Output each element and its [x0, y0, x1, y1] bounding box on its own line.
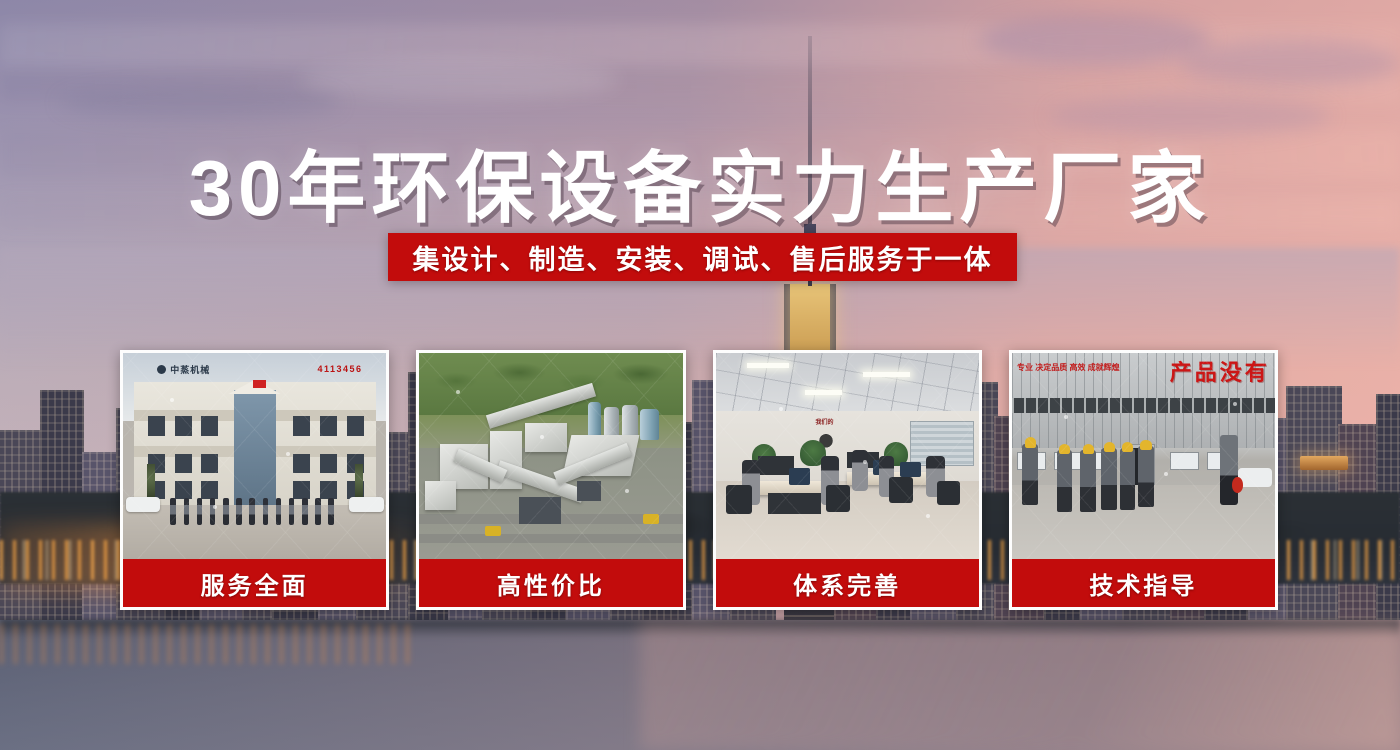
feature-card[interactable]: 我们的	[713, 350, 982, 610]
ceiling-light-panel	[863, 372, 910, 378]
subtitle-banner: 集设计、制造、安装、调试、售后服务于一体	[388, 233, 1017, 281]
excavator	[485, 526, 501, 536]
feature-card[interactable]: 中蒸机械 4113456	[120, 350, 389, 610]
hard-hat	[1140, 440, 1151, 450]
feature-card[interactable]: 高性价比	[416, 350, 685, 610]
staff-person	[289, 498, 295, 525]
flag	[253, 380, 266, 388]
water-sunset-sheen	[640, 620, 1400, 750]
window	[293, 454, 310, 474]
feature-card-caption: 技术指导	[1012, 559, 1275, 607]
staff-person	[263, 498, 269, 525]
window	[320, 454, 337, 474]
parked-car	[349, 497, 383, 511]
office-building-staff-photo: 中蒸机械 4113456	[123, 353, 386, 559]
glass-atrium	[234, 390, 276, 509]
monitor	[900, 462, 921, 476]
hero-banner: 30年环保设备实力生产厂家 集设计、制造、安装、调试、售后服务于一体	[0, 0, 1400, 750]
staff-person	[315, 498, 321, 525]
window	[201, 454, 218, 474]
window	[293, 416, 310, 436]
worker	[1057, 450, 1073, 512]
plant-shed	[519, 497, 561, 524]
staff-person	[210, 498, 216, 525]
watermark-node	[779, 407, 783, 411]
office-chair	[937, 481, 961, 506]
plant-building	[425, 481, 457, 510]
worker	[1080, 450, 1096, 512]
staff-person	[197, 498, 203, 525]
factory-red-sign: 产品没有	[1170, 355, 1270, 387]
window	[148, 416, 165, 436]
window	[293, 481, 310, 500]
feature-card-list: 中蒸机械 4113456	[120, 350, 1278, 610]
office-worker	[852, 450, 868, 491]
office-chair	[889, 477, 913, 504]
plant-road	[419, 534, 682, 542]
window	[175, 481, 192, 500]
company-logo-mark	[157, 365, 166, 374]
window	[175, 416, 192, 436]
staff-person	[223, 498, 229, 525]
lit-rooftop	[1300, 456, 1348, 470]
ceiling-light-panel	[747, 363, 789, 369]
window	[320, 481, 337, 500]
parked-car	[1238, 468, 1272, 487]
ceiling-light-panel	[805, 390, 842, 395]
office-ceiling	[716, 353, 979, 415]
hard-hat	[1104, 442, 1115, 452]
window	[201, 481, 218, 500]
building-sign: 中蒸机械	[157, 363, 210, 376]
silo	[640, 409, 658, 440]
feature-card-caption: 高性价比	[419, 559, 682, 607]
feature-card-caption-text: 服务全面	[201, 566, 309, 601]
cloud-puff	[300, 60, 620, 100]
window	[201, 416, 218, 436]
cloud-puff	[60, 86, 340, 120]
plant-building	[525, 423, 567, 452]
worker	[1138, 446, 1154, 508]
window	[175, 454, 192, 474]
page-title: 30年环保设备实力生产厂家	[0, 126, 1400, 238]
feature-card-caption: 服务全面	[123, 559, 386, 607]
hard-hat	[1025, 437, 1036, 447]
excavator	[643, 514, 659, 524]
watermark-node	[1164, 472, 1168, 476]
subtitle-text: 集设计、制造、安装、调试、售后服务于一体	[413, 238, 993, 277]
watermark-node	[625, 489, 629, 493]
cloud-puff	[980, 14, 1210, 66]
worker	[1120, 448, 1136, 510]
feature-card-caption: 体系完善	[716, 559, 979, 607]
watermark-node	[926, 514, 930, 518]
worker	[1101, 448, 1117, 510]
staff-person	[184, 498, 190, 525]
aerial-industrial-plant-photo	[419, 353, 682, 559]
office-chair	[826, 485, 850, 512]
building-sign-text: 中蒸机械	[170, 363, 210, 376]
hard-hat	[1122, 442, 1133, 452]
monitor	[789, 468, 810, 484]
staff-person	[328, 498, 334, 525]
hard-hat	[1059, 444, 1070, 454]
factory-slogan-text: 专业 决定品质 高效 成就辉煌	[1017, 363, 1120, 373]
factory-workers-briefing-photo: 产品没有 专业 决定品质 高效 成就辉煌	[1012, 353, 1275, 559]
staff-person	[276, 498, 282, 525]
feature-card-caption-text: 体系完善	[793, 566, 901, 601]
feature-card-caption-text: 技术指导	[1089, 566, 1197, 601]
water-light-reflections	[0, 624, 420, 664]
window	[347, 416, 364, 436]
silo	[588, 402, 601, 439]
staff-person	[170, 498, 176, 525]
watermark-node	[863, 460, 867, 464]
factory-window	[1170, 452, 1199, 471]
parked-car	[126, 497, 160, 511]
staff-person	[236, 498, 242, 525]
wall-logo-text: 我们的	[816, 417, 834, 426]
staff-person	[249, 498, 255, 525]
feature-card-caption-text: 高性价比	[497, 566, 605, 601]
hard-hat	[1083, 444, 1094, 454]
office-chair	[726, 485, 752, 514]
river-water	[0, 620, 1400, 750]
cloud-puff	[1180, 40, 1400, 86]
staff-person	[302, 498, 308, 525]
window	[320, 416, 337, 436]
office-interior-staff-photo: 我们的	[716, 353, 979, 559]
plant-shed	[577, 481, 601, 502]
supervisor	[1220, 435, 1238, 505]
desk-front-panel	[768, 493, 821, 514]
building-phone-number: 4113456	[318, 364, 363, 374]
feature-card[interactable]: 产品没有 专业 决定品质 高效 成就辉煌	[1009, 350, 1278, 610]
worker	[1022, 444, 1038, 506]
